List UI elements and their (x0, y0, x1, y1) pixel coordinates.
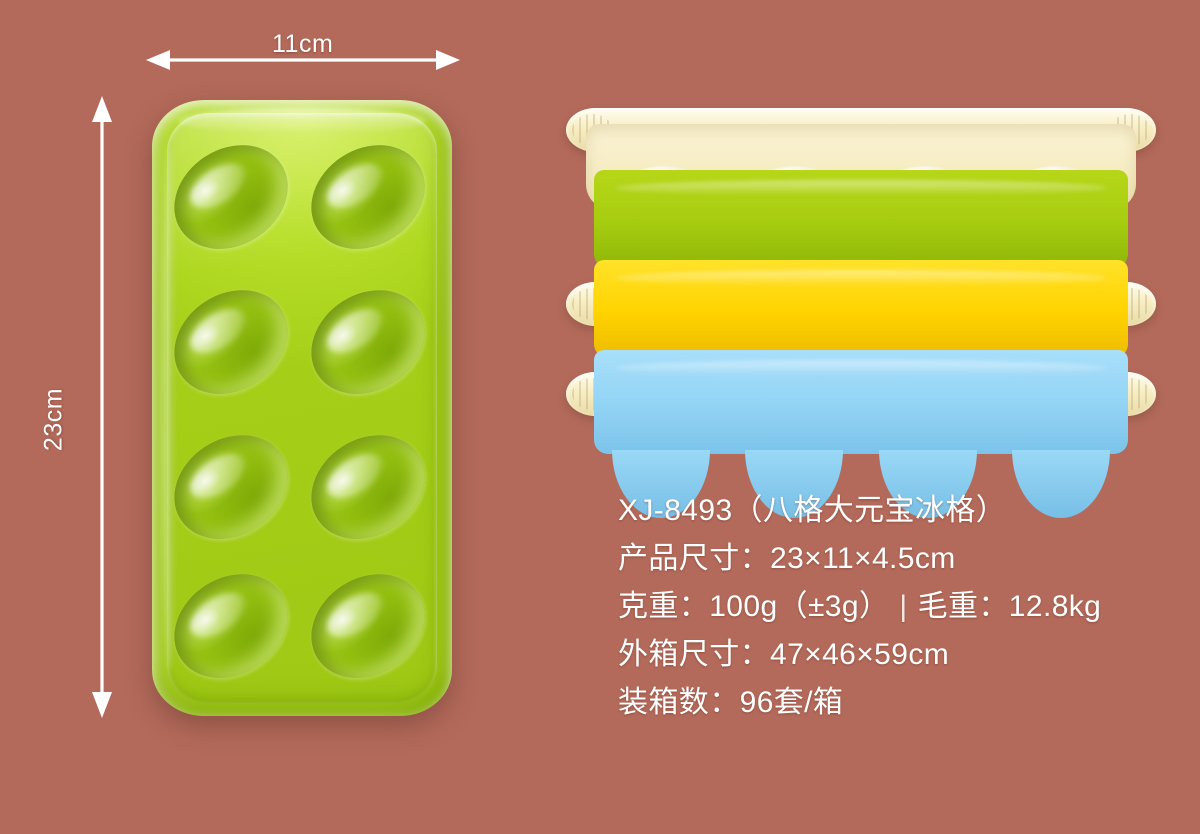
tray-body (594, 350, 1128, 454)
stacked-ice-cube-trays (566, 108, 1156, 448)
tray-rim-highlight (178, 108, 426, 134)
spec-carton-size-line: 外箱尺寸：47×46×59cm (618, 631, 1158, 679)
tray-body-highlight (615, 270, 1106, 286)
spec-product-size-line: 产品尺寸：23×11×4.5cm (618, 535, 1158, 583)
spec-carton-size-label: 外箱尺寸： (618, 638, 770, 671)
tray-body-highlight (615, 360, 1106, 376)
double-headed-horizontal-arrow-icon (146, 48, 460, 72)
green-ice-cube-tray-top-view (152, 100, 452, 716)
spec-gross-weight-label: 毛重： (918, 590, 1009, 623)
tray-body-highlight (615, 180, 1106, 196)
product-image-canvas: 11cm 23cm (0, 0, 1200, 834)
spec-packing-qty-line: 装箱数：96套/箱 (618, 679, 1158, 727)
spec-gram-weight-label: 克重： (618, 590, 709, 623)
spec-product-size-value: 23×11×4.5cm (770, 542, 956, 575)
spec-packing-qty-value: 96套/箱 (740, 686, 844, 719)
tray-body (594, 170, 1128, 268)
tray-body (594, 260, 1128, 358)
tray-blue (566, 350, 1156, 500)
spec-gram-weight-value: 100g（±3g） (709, 590, 889, 623)
spec-product-size-label: 产品尺寸： (618, 542, 770, 575)
spec-carton-size-value: 47×46×59cm (770, 638, 949, 671)
tray-side-highlight (162, 146, 177, 670)
spec-gross-weight-value: 12.8kg (1009, 590, 1101, 623)
spec-separator: | (889, 583, 917, 631)
product-spec-text: XJ-8493（八格大元宝冰格） 产品尺寸：23×11×4.5cm 克重：100… (618, 487, 1158, 727)
spec-model-line: XJ-8493（八格大元宝冰格） (618, 487, 1158, 535)
spec-packing-qty-label: 装箱数： (618, 686, 740, 719)
height-dimension-label: 23cm (40, 360, 69, 480)
spec-weight-line: 克重：100g（±3g）|毛重：12.8kg (618, 583, 1158, 631)
double-headed-vertical-arrow-icon (90, 96, 114, 718)
